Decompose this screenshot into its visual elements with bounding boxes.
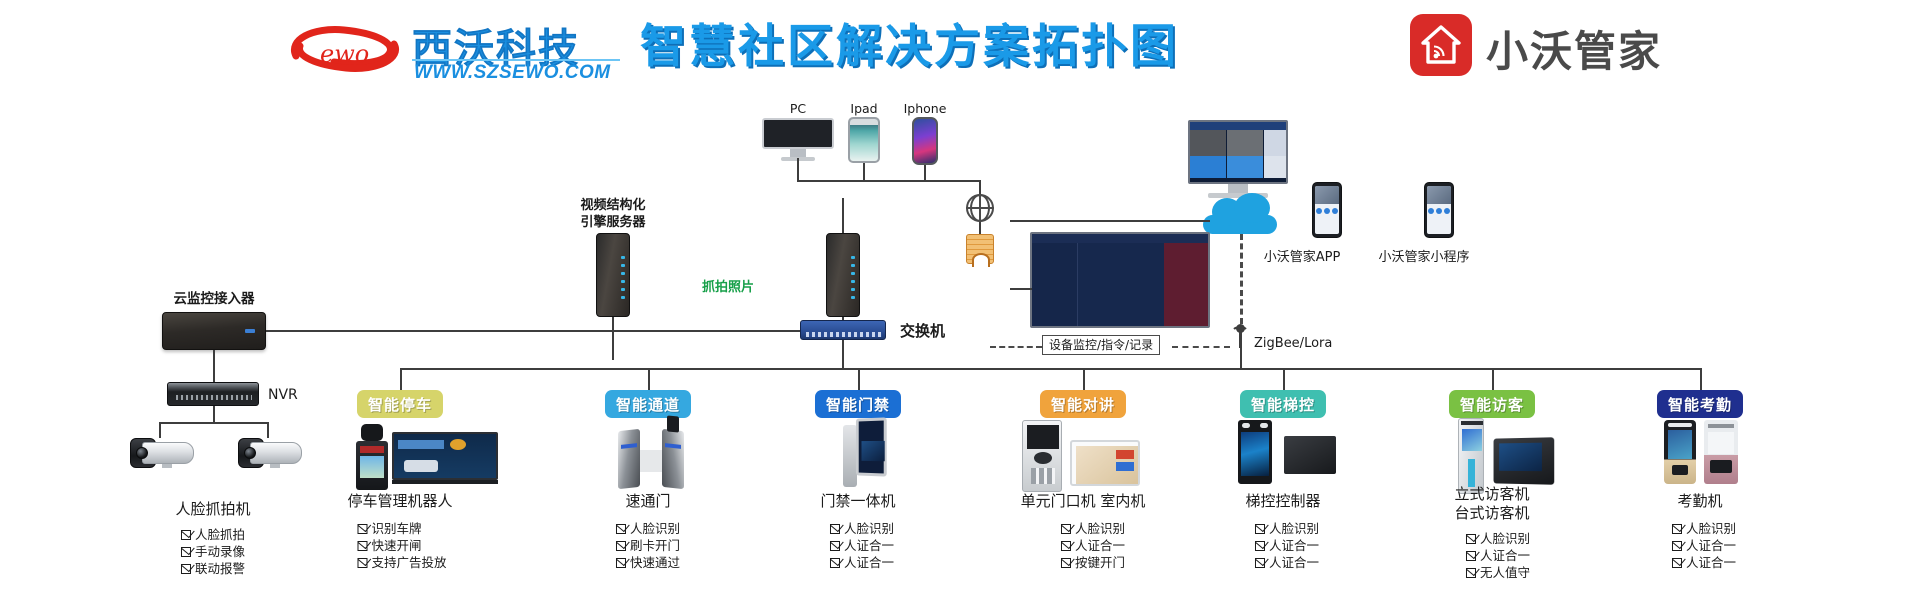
feature-label: 人证合一 xyxy=(1269,554,1319,571)
face-capture-camera-1 xyxy=(128,438,194,468)
access-terminal-pole xyxy=(843,425,857,487)
check-icon xyxy=(830,557,841,568)
check-icon xyxy=(830,540,841,551)
parking-robot-device xyxy=(356,424,388,490)
feature-label: 快速开闸 xyxy=(371,537,421,554)
check-icon xyxy=(1672,523,1683,534)
visitor-device-title: 立式访客机 台式访客机 xyxy=(1454,485,1529,523)
iphone-label: Iphone xyxy=(904,101,947,116)
indoor-monitor-device xyxy=(1070,440,1140,486)
pc-label: PC xyxy=(790,101,806,116)
link-globe-firewall xyxy=(979,222,981,234)
feature-label: 人证合一 xyxy=(844,537,894,554)
link-antenna-bus xyxy=(1240,368,1242,370)
feature-item: 人证合一 xyxy=(1672,554,1736,571)
feature-label: 人证合一 xyxy=(844,554,894,571)
feature-label: 人脸识别 xyxy=(630,520,680,537)
pc-monitor xyxy=(762,118,834,158)
feature-item: 人证合一 xyxy=(830,537,894,554)
check-icon xyxy=(181,529,192,540)
brand-website: WWW.SZSEWO.COM xyxy=(414,62,611,84)
zigbee-antenna-icon xyxy=(1230,322,1250,348)
link-bus-access xyxy=(858,368,860,390)
feature-label: 人证合一 xyxy=(1686,554,1736,571)
brand-divider xyxy=(412,59,620,61)
cloud-access-server xyxy=(162,312,266,350)
door-station-device xyxy=(1022,420,1062,492)
category-pill-channel[interactable]: 智能通道 xyxy=(605,390,691,418)
feature-label: 联动报警 xyxy=(195,560,245,577)
link-bus-visitor xyxy=(1492,368,1494,390)
cloud-icon xyxy=(1203,196,1277,234)
cloud-access-label: 云监控接入器 xyxy=(174,292,255,307)
camera-group-title: 人脸抓拍机 xyxy=(175,500,250,519)
intercom-features: 人脸识别 人证合一 按键开门 xyxy=(1061,520,1125,571)
feature-label: 刷卡开门 xyxy=(630,537,680,554)
speedgate-right xyxy=(662,429,684,489)
feature-item: 联动报警 xyxy=(181,560,245,577)
check-icon xyxy=(357,557,368,568)
feature-label: 人证合一 xyxy=(1269,537,1319,554)
standing-visitor-kiosk xyxy=(1458,418,1484,494)
feature-label: 人脸识别 xyxy=(1075,520,1125,537)
feature-label: 无人值守 xyxy=(1480,564,1530,581)
intercom-device-title: 单元门口机 室内机 xyxy=(1021,492,1146,511)
check-icon xyxy=(1466,550,1477,561)
company-logo: ewo 西沃科技 WWW.SZSEWO.COM xyxy=(282,12,612,82)
link-firewall-cloud xyxy=(1010,220,1210,222)
xiaowo-miniprogram-phone xyxy=(1424,182,1454,238)
link-bus-cam1 xyxy=(159,422,161,438)
feature-label: 人脸识别 xyxy=(1686,520,1736,537)
link-pc-bus xyxy=(797,158,799,180)
parking-barrier-arm xyxy=(392,480,498,484)
link-bus-attendance xyxy=(1700,368,1702,390)
feature-item: 手动录像 xyxy=(181,543,245,560)
attendance-device-title: 考勤机 xyxy=(1677,492,1722,511)
link-bus-elevator xyxy=(1283,368,1285,390)
check-icon xyxy=(357,540,368,551)
video-engine-server xyxy=(596,233,630,317)
check-icon xyxy=(830,523,841,534)
house-wifi-icon xyxy=(1410,14,1472,76)
camera-bus xyxy=(159,422,269,424)
check-icon xyxy=(616,523,627,534)
link-bus-cam2 xyxy=(267,422,269,438)
feature-label: 支持广告投放 xyxy=(371,554,446,571)
app-label-0: 小沃管家APP xyxy=(1264,250,1341,265)
firewall-icon xyxy=(966,234,994,264)
check-icon xyxy=(357,523,368,534)
check-icon xyxy=(1255,557,1266,568)
link-bus-parking xyxy=(400,368,402,390)
nvr-label: NVR xyxy=(268,388,298,403)
category-pill-access[interactable]: 智能门禁 xyxy=(815,390,901,418)
feature-item: 人脸识别 xyxy=(1672,520,1736,537)
attendance-terminal-2 xyxy=(1704,420,1738,484)
speedgate-left xyxy=(618,429,640,489)
link-platform-bus xyxy=(842,198,844,233)
app-label-1: 小沃管家小程序 xyxy=(1378,250,1469,265)
elevator-control-panel xyxy=(1284,436,1336,474)
video-engine-label-line2: 引擎服务器 xyxy=(580,215,645,230)
link-videoengine-switch xyxy=(612,317,614,360)
feature-item: 刷卡开门 xyxy=(616,537,680,554)
check-icon xyxy=(616,557,627,568)
category-bus xyxy=(400,368,1700,370)
category-pill-visitor[interactable]: 智能访客 xyxy=(1449,390,1535,418)
feature-item: 人脸识别 xyxy=(830,520,894,537)
feature-item: 人证合一 xyxy=(1466,547,1530,564)
link-ipad-bus xyxy=(863,163,865,180)
check-icon xyxy=(181,563,192,574)
vms-wall-display xyxy=(1030,232,1210,328)
vms-monitor xyxy=(1188,120,1288,184)
camera-group-features: 人脸抓拍 手动录像 联动报警 xyxy=(181,526,245,577)
feature-item: 人证合一 xyxy=(1061,537,1125,554)
check-icon xyxy=(1061,523,1072,534)
feature-label: 识别车牌 xyxy=(371,520,421,537)
feature-item: 人脸识别 xyxy=(1061,520,1125,537)
check-icon xyxy=(1672,540,1683,551)
iphone-device xyxy=(912,117,938,165)
xiaowo-logo-text: 小沃管家 xyxy=(1486,18,1662,79)
feature-item: 快速开闸 xyxy=(357,537,446,554)
parking-features: 识别车牌 快速开闸 支持广告投放 xyxy=(357,520,446,571)
face-capture-camera-2 xyxy=(236,438,302,468)
internet-globe-icon xyxy=(966,194,994,222)
platform-server xyxy=(826,233,860,317)
attendance-features: 人脸识别 人证合一 人证合一 xyxy=(1672,520,1736,571)
terminal-bus xyxy=(797,180,981,182)
check-icon xyxy=(1255,523,1266,534)
sewo-swoosh-icon: ewo xyxy=(282,22,412,74)
channel-features: 人脸识别 刷卡开门 快速通过 xyxy=(616,520,680,571)
check-icon xyxy=(1466,533,1477,544)
category-pill-intercom[interactable]: 智能对讲 xyxy=(1040,390,1126,418)
wireless-protocol-label: ZigBee/Lora xyxy=(1254,336,1332,351)
feature-label: 按键开门 xyxy=(1075,554,1125,571)
feature-label: 人脸识别 xyxy=(1269,520,1319,537)
feature-label: 人脸识别 xyxy=(844,520,894,537)
check-icon xyxy=(181,546,192,557)
svg-text:ewo: ewo xyxy=(320,40,369,68)
attendance-terminal-1 xyxy=(1664,420,1696,484)
category-pill-attendance[interactable]: 智能考勤 xyxy=(1657,390,1743,418)
check-icon xyxy=(1061,540,1072,551)
check-icon xyxy=(1061,557,1072,568)
parking-device-title: 停车管理机器人 xyxy=(347,492,452,511)
ipad-label: Ipad xyxy=(850,101,877,116)
feature-item: 识别车牌 xyxy=(357,520,446,537)
feature-item: 人证合一 xyxy=(1672,537,1736,554)
feature-item: 人证合一 xyxy=(1255,554,1319,571)
feature-label: 人证合一 xyxy=(1480,547,1530,564)
feature-item: 快速通过 xyxy=(616,554,680,571)
vms-monitor-neck xyxy=(1228,184,1248,193)
capture-photo-note: 抓拍照片 xyxy=(702,276,754,295)
feature-item: 支持广告投放 xyxy=(357,554,446,571)
link-bus-channel xyxy=(648,368,650,390)
link-nvr-down xyxy=(213,406,215,422)
feature-item: 人脸抓拍 xyxy=(181,526,245,543)
elevator-controller-device xyxy=(1238,420,1272,484)
core-switch xyxy=(800,320,886,340)
feature-label: 人证合一 xyxy=(1075,537,1125,554)
feature-item: 人脸识别 xyxy=(1255,520,1319,537)
visitor-title-line1: 立式访客机 台式访客机 xyxy=(1454,485,1529,522)
feature-label: 手动录像 xyxy=(195,543,245,560)
feature-item: 按键开门 xyxy=(1061,554,1125,571)
link-bus-intercom xyxy=(1083,368,1085,390)
device-monitor-box: 设备监控/指令/记录 xyxy=(1042,335,1160,355)
xiaowo-app-phone xyxy=(1312,182,1342,238)
feature-item: 人证合一 xyxy=(1255,537,1319,554)
feature-label: 快速通过 xyxy=(630,554,680,571)
xiaowo-logo: 小沃管家 xyxy=(1410,14,1710,76)
page-header: ewo 西沃科技 WWW.SZSEWO.COM 智慧社区解决方案拓扑图 小沃管家 xyxy=(0,0,1920,92)
category-pill-parking[interactable]: 智能停车 xyxy=(357,390,443,418)
check-icon xyxy=(1672,557,1683,568)
feature-label: 人证合一 xyxy=(1686,537,1736,554)
link-cloudaccess-nvr xyxy=(213,350,215,382)
feature-label: 人脸识别 xyxy=(1480,530,1530,547)
elevator-device-title: 梯控控制器 xyxy=(1245,492,1320,511)
nvr-device xyxy=(167,382,259,406)
video-engine-label-line1: 视频结构化 xyxy=(580,198,645,213)
link-monitorbox-left xyxy=(990,346,1042,348)
link-switch-downbus xyxy=(842,340,844,368)
link-iphone-bus xyxy=(924,165,926,180)
switch-label: 交换机 xyxy=(900,324,945,339)
link-monitorbox-antenna xyxy=(1172,346,1230,348)
page-title: 智慧社区解决方案拓扑图 xyxy=(640,10,1179,76)
feature-label: 人脸抓拍 xyxy=(195,526,245,543)
visitor-features: 人脸识别 人证合一 无人值守 xyxy=(1466,530,1530,581)
feature-item: 人脸识别 xyxy=(1466,530,1530,547)
desktop-visitor-terminal xyxy=(1494,437,1555,484)
link-switch-vmswall xyxy=(1010,288,1032,290)
feature-item: 人脸识别 xyxy=(616,520,680,537)
channel-device-title: 速通门 xyxy=(625,492,670,511)
access-features: 人脸识别 人证合一 人证合一 xyxy=(830,520,894,571)
feature-item: 无人值守 xyxy=(1466,564,1530,581)
ipad-device xyxy=(848,117,880,163)
access-device-title: 门禁一体机 xyxy=(820,492,895,511)
check-icon xyxy=(1466,567,1477,578)
link-antenna-down xyxy=(1240,348,1242,368)
link-cloudaccess-switch xyxy=(266,330,826,332)
elevator-features: 人脸识别 人证合一 人证合一 xyxy=(1255,520,1319,571)
topology-diagram-page: ewo 西沃科技 WWW.SZSEWO.COM 智慧社区解决方案拓扑图 小沃管家… xyxy=(0,0,1920,600)
check-icon xyxy=(616,540,627,551)
category-pill-elevator[interactable]: 智能梯控 xyxy=(1240,390,1326,418)
feature-item: 人证合一 xyxy=(830,554,894,571)
access-terminal-device xyxy=(856,417,887,476)
parking-led-billboard xyxy=(392,432,498,480)
speedgate-flap xyxy=(640,450,662,472)
cloud-wireless-link xyxy=(1240,234,1243,324)
check-icon xyxy=(1255,540,1266,551)
